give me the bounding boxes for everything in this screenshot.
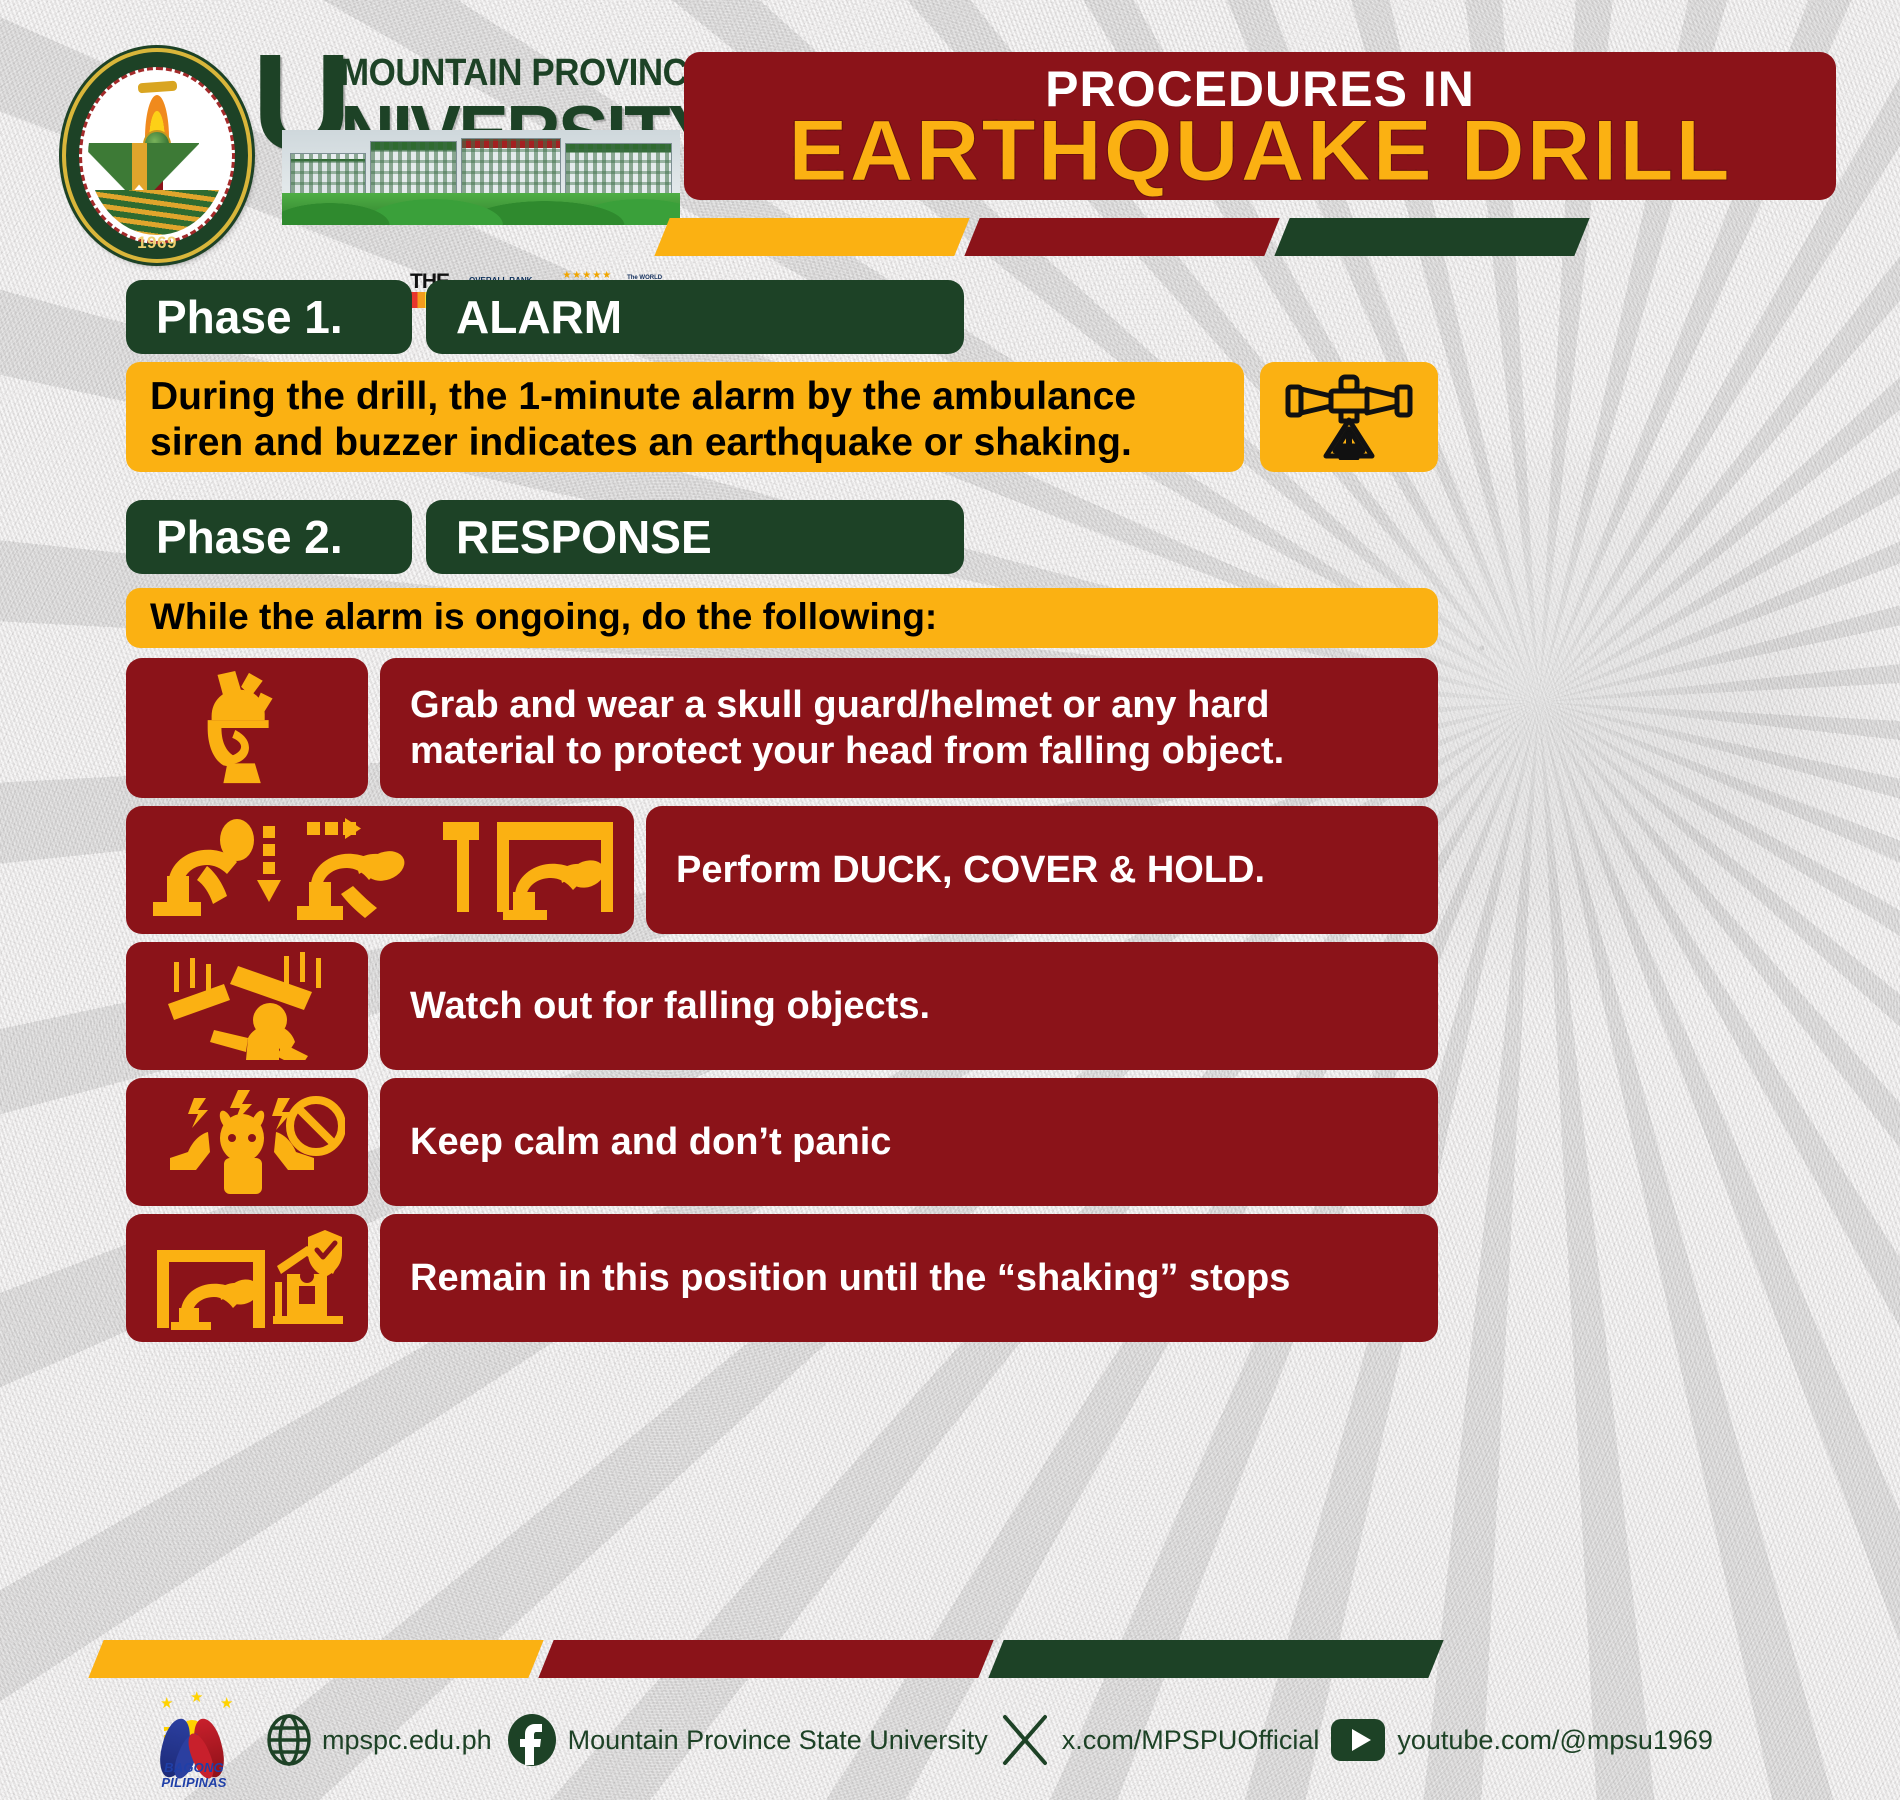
footer-link-label: x.com/MPSPUOfficial xyxy=(1062,1725,1320,1756)
x-twitter-icon xyxy=(998,1711,1052,1769)
bagong-pilipinas-caption: BAGONG PILIPINAS xyxy=(140,1760,248,1790)
stripe-maroon xyxy=(964,218,1279,256)
footer-link-label: Mountain Province State University xyxy=(568,1725,988,1756)
bagong-pilipinas-logo: ★★★ BAGONG PILIPINAS xyxy=(140,1692,248,1788)
instruction-row: Perform DUCK, COVER & HOLD. xyxy=(126,806,1438,934)
phase1-header: Phase 1. ALARM xyxy=(126,280,964,354)
decorative-stripes-bottom xyxy=(96,1640,1446,1678)
phase2-header: Phase 2. RESPONSE xyxy=(126,500,964,574)
footer-link-label: mpspc.edu.ph xyxy=(322,1725,492,1756)
footer-link-facebook[interactable]: Mountain Province State University xyxy=(506,1713,988,1767)
falling-objects-icon xyxy=(126,942,368,1070)
stripe-amber xyxy=(88,1640,543,1678)
title-plate: PROCEDURES IN EARTHQUAKE DRILL xyxy=(684,52,1836,200)
phase1-name-pill: ALARM xyxy=(426,280,964,354)
siren-icon xyxy=(1284,374,1414,460)
page-title-secondary: EARTHQUAKE DRILL xyxy=(667,102,1854,201)
phase2-name-pill: RESPONSE xyxy=(426,500,964,574)
globe-icon xyxy=(266,1713,312,1767)
helmet-head-protection-icon xyxy=(126,658,368,798)
phase1-description: During the drill, the 1-minute alarm by … xyxy=(126,362,1244,472)
instruction-row: Grab and wear a skull guard/helmet or an… xyxy=(126,658,1438,798)
instruction-text: Remain in this position until the “shaki… xyxy=(380,1214,1438,1342)
instruction-row: Watch out for falling objects. xyxy=(126,942,1438,1070)
campus-photo xyxy=(282,130,680,225)
footer-link-youtube[interactable]: youtube.com/@mpsu1969 xyxy=(1329,1717,1713,1763)
no-panic-icon xyxy=(126,1078,368,1206)
footer: ★★★ BAGONG PILIPINAS mpspc.edu.ph xyxy=(0,1680,1900,1800)
footer-link-label: youtube.com/@mpsu1969 xyxy=(1397,1725,1713,1756)
siren-icon-card xyxy=(1260,362,1438,472)
instruction-text: Grab and wear a skull guard/helmet or an… xyxy=(380,658,1438,798)
instruction-row: Remain in this position until the “shaki… xyxy=(126,1214,1438,1342)
footer-link-x[interactable]: x.com/MPSPUOfficial xyxy=(998,1711,1320,1769)
university-seal-logo: 1969 xyxy=(62,48,252,263)
stay-under-table-icon xyxy=(126,1214,368,1342)
phase2-intro: While the alarm is ongoing, do the follo… xyxy=(126,588,1438,648)
facebook-icon xyxy=(506,1713,558,1767)
instruction-row: Keep calm and don’t panic xyxy=(126,1078,1438,1206)
infographic-page: 1969 U MOUNTAIN PROVINCE STATE NIVERSITY… xyxy=(0,0,1900,1800)
stripe-green xyxy=(988,1640,1443,1678)
duck-cover-hold-icon xyxy=(126,806,634,934)
instruction-text: Perform DUCK, COVER & HOLD. xyxy=(646,806,1438,934)
instruction-text: Keep calm and don’t panic xyxy=(380,1078,1438,1206)
phase1-number-pill: Phase 1. xyxy=(126,280,412,354)
seal-year: 1969 xyxy=(62,233,252,253)
stripe-amber xyxy=(654,218,969,256)
footer-link-website[interactable]: mpspc.edu.ph xyxy=(266,1713,492,1767)
stripe-green xyxy=(1274,218,1589,256)
stripe-maroon xyxy=(538,1640,993,1678)
phase2-number-pill: Phase 2. xyxy=(126,500,412,574)
decorative-stripes-top xyxy=(662,218,1592,256)
youtube-icon xyxy=(1329,1717,1387,1763)
instruction-text: Watch out for falling objects. xyxy=(380,942,1438,1070)
